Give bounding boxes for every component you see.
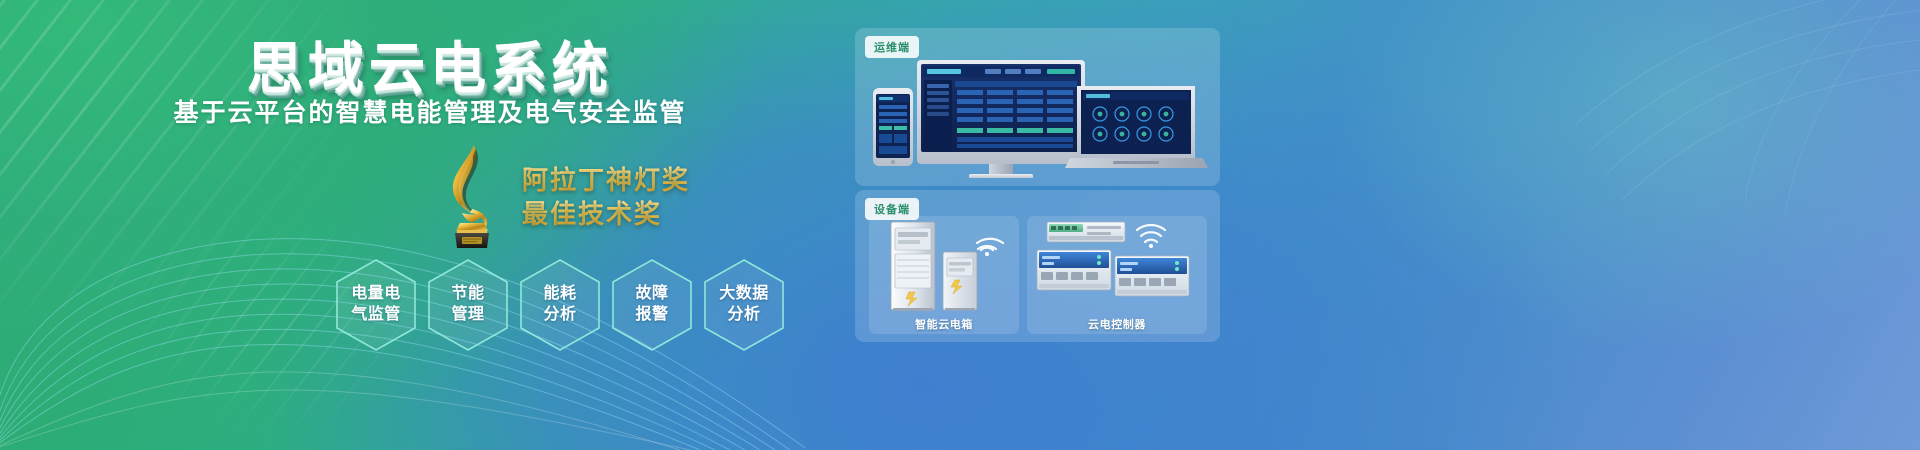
feature-label-line2: 气监管 (351, 306, 401, 323)
device-caption: 云电控制器 (1027, 316, 1207, 332)
award-block: 阿拉丁神灯奖 最佳技术奖 (440, 140, 740, 250)
feature-hexagon-label: 故障 报警 (623, 284, 681, 326)
feature-hexagon-consumption-analysis[interactable]: 能耗 分析 (518, 258, 602, 352)
feature-hexagon-fault-alarm[interactable]: 故障 报警 (610, 258, 694, 352)
feature-label-line1: 大数据 (719, 285, 769, 302)
feature-label-line2: 报警 (635, 306, 668, 323)
cloud-power-controller-icon (1027, 216, 1207, 316)
feature-label-line1: 电量电 (351, 285, 401, 302)
device-panel: 设备端 (855, 190, 1220, 342)
promo-banner: 思域云电系统 基于云平台的智慧电能管理及电气安全监管 (0, 0, 1920, 450)
ops-device-illustration (865, 58, 1210, 178)
award-text-block: 阿拉丁神灯奖 最佳技术奖 (522, 159, 690, 232)
award-line-1: 阿拉丁神灯奖 (522, 163, 690, 197)
device-card-cabinet[interactable]: 智能云电箱 (869, 216, 1019, 334)
device-caption: 智能云电箱 (869, 316, 1019, 332)
feature-hexagon-big-data-analysis[interactable]: 大数据 分析 (702, 258, 786, 352)
feature-hexagon-label: 大数据 分析 (715, 284, 773, 326)
controller-module-top (1047, 222, 1125, 242)
smart-cloud-power-cabinet-icon (869, 216, 1019, 316)
device-card-controller[interactable]: 云电控制器 (1027, 216, 1207, 334)
page-subtitle: 基于云平台的智慧电能管理及电气安全监管 (0, 93, 860, 129)
ops-panel: 运维端 (855, 28, 1220, 186)
feature-label-line2: 管理 (451, 306, 484, 323)
feature-hexagon-label: 能耗 分析 (531, 284, 589, 326)
laptop-icon (1065, 86, 1208, 168)
feature-hexagon-label: 节能 管理 (439, 284, 497, 326)
feature-hexagon-row: 电量电 气监管 节能 管理 能耗 分析 (334, 258, 786, 352)
trophy-icon (440, 141, 504, 249)
controller-module-right (1115, 256, 1189, 296)
desktop-monitor-icon (917, 60, 1085, 178)
feature-label-line1: 节能 (451, 285, 484, 302)
ops-panel-tag: 运维端 (865, 36, 919, 58)
feature-hexagon-energy-saving[interactable]: 节能 管理 (426, 258, 510, 352)
feature-label-line1: 能耗 (543, 285, 576, 302)
controller-module-left (1037, 250, 1111, 290)
left-content: 思域云电系统 基于云平台的智慧电能管理及电气安全监管 (0, 0, 860, 450)
feature-label-line2: 分析 (543, 306, 576, 323)
ops-panel-devices (865, 58, 1210, 178)
award-line-2: 最佳技术奖 (522, 197, 690, 231)
smartphone-icon (873, 88, 913, 166)
feature-label-line2: 分析 (727, 306, 760, 323)
feature-hexagon-power-monitoring[interactable]: 电量电 气监管 (334, 258, 418, 352)
feature-hexagon-label: 电量电 气监管 (347, 284, 405, 326)
feature-label-line1: 故障 (635, 285, 668, 302)
topright-line-decor (1160, 0, 1920, 300)
